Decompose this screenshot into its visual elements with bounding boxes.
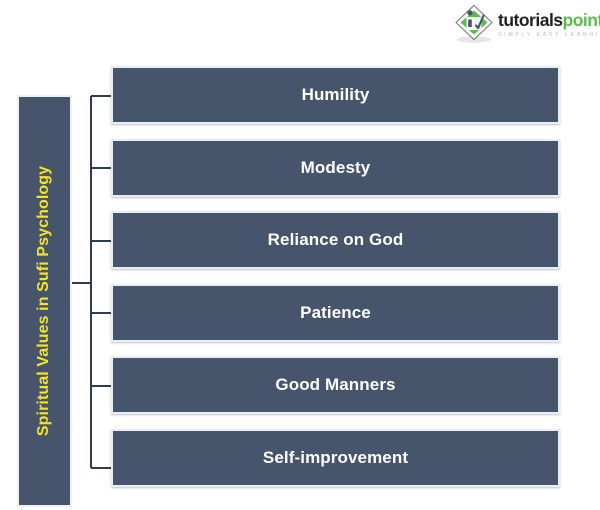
root-node-label: Spiritual Values in Sufi Psychology — [36, 166, 54, 436]
logo-tagline: SIMPLY EASY LEARNING — [498, 31, 600, 39]
value-box-self-improvement: Self-improvement — [111, 429, 560, 487]
root-node-box: Spiritual Values in Sufi Psychology — [17, 95, 72, 507]
value-box-reliance-on-god: Reliance on God — [111, 211, 560, 269]
spiritual-values-diagram: Spiritual Values in Sufi Psychology Humi… — [0, 55, 600, 510]
value-label: Humility — [302, 85, 370, 105]
value-box-good-manners: Good Manners — [111, 356, 560, 414]
logo-word-secondary: point — [563, 10, 600, 30]
value-label: Reliance on God — [268, 230, 404, 250]
tutorialspoint-logo: tutorialspoint SIMPLY EASY LEARNING — [452, 3, 596, 45]
value-label: Modesty — [301, 158, 371, 178]
diagram-page: tutorialspoint SIMPLY EASY LEARNING Spir… — [0, 0, 600, 510]
tutorialspoint-diamond-logo-icon — [452, 3, 496, 45]
value-box-humility: Humility — [111, 66, 560, 124]
value-label: Good Manners — [275, 375, 395, 395]
value-box-modesty: Modesty — [111, 139, 560, 197]
value-label: Patience — [300, 303, 371, 323]
logo-wordmark: tutorialspoint SIMPLY EASY LEARNING — [498, 10, 600, 39]
logo-word-primary: tutorials — [498, 10, 563, 30]
value-box-patience: Patience — [111, 284, 560, 342]
value-label: Self-improvement — [263, 448, 408, 468]
